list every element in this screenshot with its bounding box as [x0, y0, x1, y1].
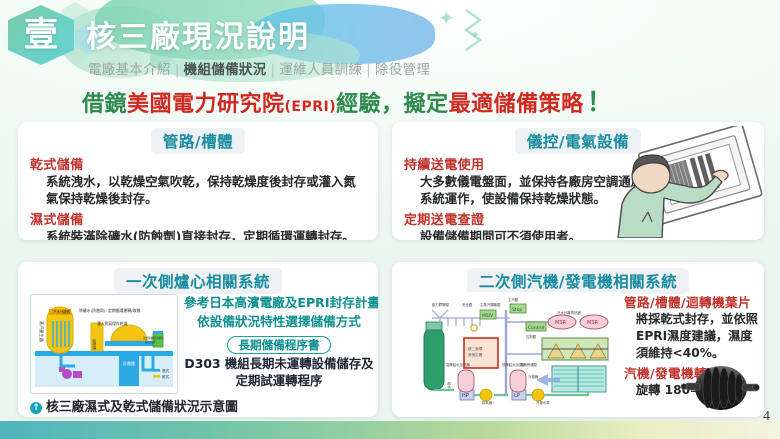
text-wet-storage: 系統裝滿除礦水(防蝕劑)直接封存，定期循環運轉封存。 — [46, 228, 366, 240]
subheading-continuous-power: 持續送電使用 — [404, 154, 644, 173]
svg-text:濕式: 濕式 — [162, 368, 170, 373]
subheading-periodic-power-check: 定期送電查證 — [404, 209, 644, 228]
svg-text:LP: LP — [514, 393, 520, 399]
svg-text:控制閥: 控制閥 — [526, 334, 537, 339]
svg-text:主汽閥: 主汽閥 — [508, 297, 519, 302]
diagram-caption-primary: ↑核三廠濕式及乾式儲備狀況示意圖 — [30, 396, 238, 415]
air-conditioner-maintenance-illustration — [616, 126, 764, 238]
svg-text:動力釋壓閥: 動力釋壓閥 — [432, 302, 450, 307]
svg-text:調配槽: 調配槽 — [92, 339, 97, 350]
text-periodic-power-check: 設備儲備期間可不須使用者。 — [420, 228, 644, 240]
primary-note-line1: 參考日本高濱電廠及EPRI封存計畫， — [184, 294, 374, 313]
svg-text:Control: Control — [528, 325, 544, 331]
card-instrumentation-electrical: 儀控/電氣設備 持續送電使用 大多數儀電盤面，並保持各廠房空調通風系統運作，使設… — [392, 122, 764, 240]
headline-epri: (EPRI) — [285, 99, 337, 115]
subheading-dry-storage: 乾式儲備 — [30, 154, 366, 173]
svg-text:灌入氮氣保存乾燥: 灌入氮氣保存乾燥 — [97, 321, 128, 326]
svg-text:Stop: Stop — [512, 307, 522, 313]
svg-text:MSIV: MSIV — [482, 313, 494, 319]
breadcrumb: 電廠基本介紹|機組儲備狀況|運維人員訓練|除役管理 — [88, 58, 430, 78]
svg-text:濕式隔離後冷卻水: 濕式隔離後冷卻水 — [143, 336, 164, 340]
card-title-secondary: 二次側汽機/發電機相關系統 — [467, 268, 689, 294]
svg-text:HP: HP — [462, 393, 469, 399]
svg-text:主蒸汽隔離閥: 主蒸汽隔離閥 — [480, 302, 501, 307]
text-dry-storage: 系統洩水，以乾燥空氣吹乾，保持乾燥度後封存或灌入氮氣保持乾燥後封存。 — [46, 173, 366, 207]
procedure-line1: D303 機組長期未運轉設備儲存及 — [184, 356, 374, 373]
zigzag-decor-icon — [462, 8, 502, 60]
sparkle-icon: ✦ — [438, 6, 455, 31]
footer-gradient-bar — [0, 421, 780, 439]
secondary-side-steam-cycle-diagram: 核二面環 其他生器 Stop Control MSIV MSR MSR — [402, 292, 620, 412]
svg-text:蒸汽產生器: 蒸汽產生器 — [38, 321, 45, 343]
svg-text:核二面環: 核二面環 — [468, 346, 483, 351]
card-title-pipes: 管路/槽體 — [151, 128, 245, 154]
subheading-pipes-blades: 管路/槽體/迴轉機葉片 — [624, 292, 764, 311]
svg-text:給水: 給水 — [447, 382, 452, 389]
subheading-wet-storage: 濕式儲備 — [30, 209, 366, 228]
text-pipes-blades: 將採乾式封存，並依照EPRI濕度建議，濕度須維持<40%。 — [636, 311, 764, 361]
card-pipes-tanks: 管路/槽體 乾式儲備 系統洩水，以乾燥空氣吹乾，保持乾燥度後封存或灌入氮氣保持乾… — [18, 122, 378, 240]
turbine-generator-rotor-photo — [678, 355, 764, 417]
svg-text:低壓給水加熱器: 低壓給水加熱器 — [502, 362, 526, 367]
card-instrumentation-body: 持續送電使用 大多數儀電盤面，並保持各廠房空調通風系統運作，使設備保持乾燥狀態。… — [404, 154, 644, 240]
procedure-line2: 定期試運轉程序 — [184, 373, 374, 390]
card-title-primary: 一次側爐心相關系統 — [114, 268, 282, 294]
diagram-caption-text: 核三廠濕式及乾式儲備狀況示意圖 — [46, 400, 238, 415]
headline-exclamation: ！ — [587, 88, 614, 118]
nav-item-plant-intro[interactable]: 電廠基本介紹 — [88, 62, 171, 78]
svg-text:其他生器: 其他生器 — [468, 352, 483, 357]
slide-root: ✦ ✦ 壹 核三廠現況說明 電廠基本介紹|機組儲備狀況|運維人員訓練|除役管理 … — [0, 0, 780, 439]
svg-text:冷凝水泵: 冷凝水泵 — [536, 400, 550, 405]
procedure-pill-badge: 長期儲備程序書 — [227, 336, 330, 354]
page-number: 4 — [763, 409, 770, 425]
nav-separator: | — [366, 62, 371, 78]
svg-text:MSR: MSR — [555, 320, 566, 326]
section-number-label: 壹 — [24, 18, 58, 52]
nav-item-training[interactable]: 運維人員訓練 — [279, 62, 362, 78]
svg-text:汽水分離再熱器: 汽水分離再熱器 — [557, 310, 581, 315]
primary-side-notes: 參考日本高濱電廠及EPRI封存計畫， 依設備狀況特性選擇儲備方式 長期儲備程序書… — [184, 294, 374, 389]
card-pipes-body: 乾式儲備 系統洩水，以乾燥空氣吹乾，保持乾燥度後封存或灌入氮氣保持乾燥後封存。 … — [30, 154, 366, 240]
primary-side-storage-diagram: 蒸汽產生器 汽水分離器 調配槽 反應爐 除礦水(防蝕劑): 定期循環運轉/取樣 … — [30, 294, 178, 394]
nav-item-unit-storage[interactable]: 機組儲備狀況 — [184, 62, 267, 78]
nav-separator: | — [270, 62, 275, 78]
svg-text:乾式: 乾式 — [162, 374, 170, 379]
svg-text:除氧器: 除氧器 — [482, 400, 493, 405]
headline: 借鏡美國電力研究院(EPRI)經驗，擬定最適儲備策略！ — [82, 82, 613, 119]
svg-text:MSR: MSR — [587, 320, 598, 326]
text-continuous-power: 大多數儀電盤面，並保持各廠房空調通風系統運作，使設備保持乾燥狀態。 — [420, 173, 644, 207]
svg-text:反應爐: 反應爐 — [123, 360, 135, 366]
up-arrow-icon: ↑ — [30, 402, 42, 414]
nav-separator: | — [175, 62, 180, 78]
headline-part4: 最適儲備策略 — [449, 92, 584, 117]
svg-text:除礦水(防蝕劑): 定期循環運轉/取樣: 除礦水(防蝕劑): 定期循環運轉/取樣 — [79, 308, 140, 313]
card-primary-side: 一次側爐心相關系統 蒸汽產生器 汽水分離器 調配槽 反應爐 — [18, 262, 378, 417]
primary-note-line2: 依設備狀況特性選擇儲備方式 — [184, 313, 374, 332]
headline-part2: 美國電力研究院 — [127, 92, 285, 117]
svg-text:冷凝器: 冷凝器 — [528, 374, 539, 379]
svg-text:保存乾燥: 保存乾燥 — [145, 340, 156, 344]
page-title: 核三廠現況說明 — [86, 12, 310, 56]
card-secondary-side: 二次側汽機/發電機相關系統 核二面環 其他生器 Stop Cont — [392, 262, 764, 417]
headline-part3: 經驗，擬定 — [336, 92, 449, 117]
svg-text:高壓給水加熱器: 高壓給水加熱器 — [446, 362, 470, 367]
svg-text:安全閥: 安全閥 — [462, 302, 473, 307]
nav-item-decommissioning[interactable]: 除役管理 — [375, 62, 430, 78]
headline-part1: 借鏡 — [82, 92, 127, 117]
svg-text:汽水分離器: 汽水分離器 — [53, 309, 71, 314]
